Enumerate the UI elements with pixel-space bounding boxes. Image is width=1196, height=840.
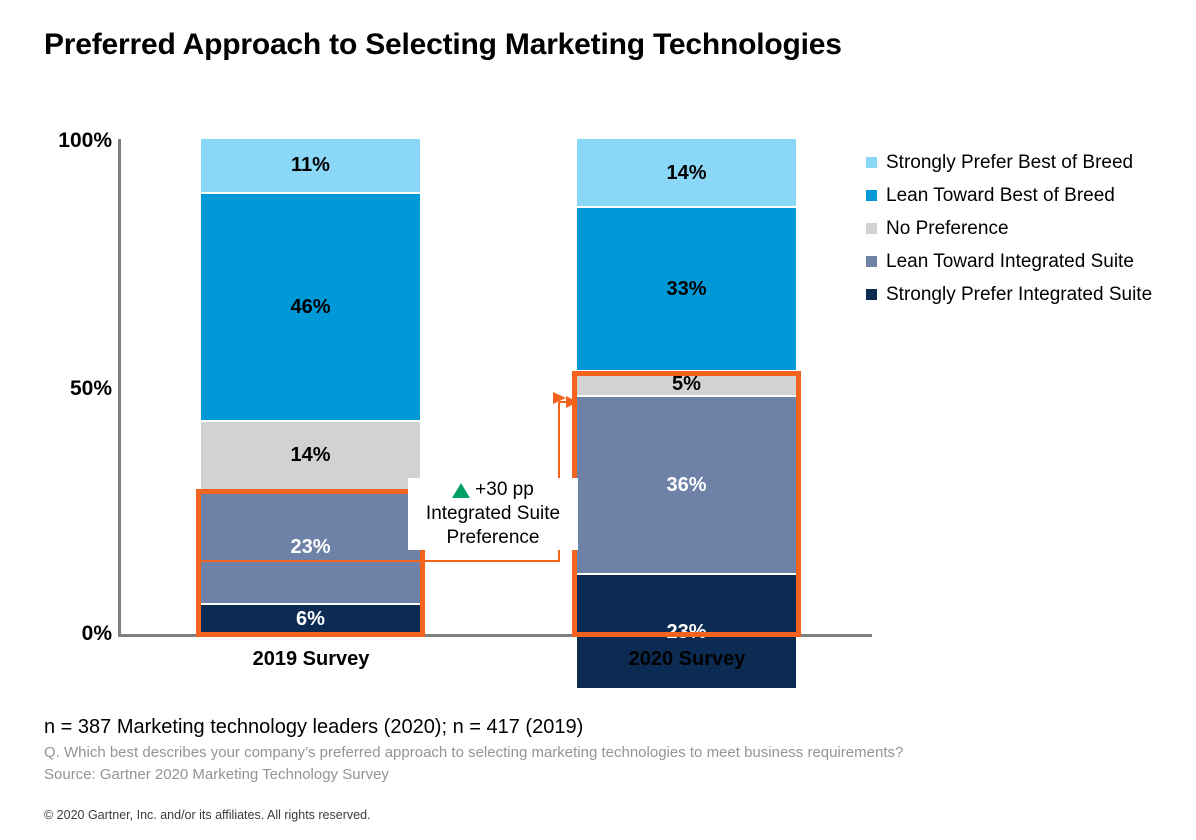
segment-label: 23% <box>290 537 330 557</box>
delta-value: +30 pp <box>475 478 534 502</box>
segment-2019-strongly-prefer-best-of-breed[interactable]: 11% <box>201 139 420 194</box>
segment-2019-lean-toward-best-of-breed[interactable]: 46% <box>201 194 420 422</box>
segment-label: 6% <box>296 609 325 629</box>
delta-callout: +30 pp Integrated Suite Preference <box>408 478 578 550</box>
legend-item-label: No Preference <box>886 218 1009 240</box>
segment-2020-strongly-prefer-integrated-suite[interactable]: 23% <box>577 575 796 689</box>
segment-label: 14% <box>290 445 330 465</box>
legend-item-lean-toward-best-of-breed[interactable]: Lean Toward Best of Breed <box>866 179 1186 212</box>
legend-swatch-icon <box>866 256 877 267</box>
legend-item-strongly-prefer-best-of-breed[interactable]: Strongly Prefer Best of Breed <box>866 146 1186 179</box>
segment-2020-lean-toward-best-of-breed[interactable]: 33% <box>577 208 796 372</box>
footnote-source: Source: Gartner 2020 Marketing Technolog… <box>44 764 1144 786</box>
legend-item-label: Strongly Prefer Integrated Suite <box>886 284 1152 306</box>
segment-label: 36% <box>666 475 706 495</box>
segment-label: 11% <box>291 155 330 175</box>
y-tick-0: 0% <box>42 622 112 646</box>
legend-item-label: Strongly Prefer Best of Breed <box>886 152 1133 174</box>
segment-2019-lean-toward-integrated-suite[interactable]: 23% <box>201 491 420 605</box>
y-tick-100: 100% <box>42 129 112 153</box>
segment-label: 33% <box>666 279 706 299</box>
segment-2019-strongly-prefer-integrated-suite[interactable]: 6% <box>201 605 420 635</box>
legend-swatch-icon <box>866 190 877 201</box>
y-tick-50: 50% <box>42 377 112 401</box>
segment-label: 23% <box>666 622 706 642</box>
segment-label: 46% <box>290 297 330 317</box>
segment-2020-lean-toward-integrated-suite[interactable]: 36% <box>577 397 796 576</box>
legend-item-lean-toward-integrated-suite[interactable]: Lean Toward Integrated Suite <box>866 245 1186 278</box>
segment-2020-strongly-prefer-best-of-breed[interactable]: 14% <box>577 139 796 208</box>
chart-legend: Strongly Prefer Best of Breed Lean Towar… <box>866 146 1186 311</box>
delta-row: +30 pp <box>408 478 578 502</box>
legend-item-label: Lean Toward Integrated Suite <box>886 251 1134 273</box>
segment-label: 5% <box>672 374 701 394</box>
up-triangle-icon <box>452 483 470 498</box>
segment-label: 14% <box>666 163 706 183</box>
x-label-2020: 2020 Survey <box>557 648 817 671</box>
copyright-notice: © 2020 Gartner, Inc. and/or its affiliat… <box>44 808 371 822</box>
y-axis-ticks: 100% 50% 0% <box>38 0 112 700</box>
footnotes: n = 387 Marketing technology leaders (20… <box>44 716 1144 786</box>
legend-swatch-icon <box>866 223 877 234</box>
legend-item-label: Lean Toward Best of Breed <box>886 185 1115 207</box>
legend-item-no-preference[interactable]: No Preference <box>866 212 1186 245</box>
y-axis-line <box>118 139 121 635</box>
segment-2020-no-preference[interactable]: 5% <box>577 372 796 397</box>
legend-swatch-icon <box>866 289 877 300</box>
legend-swatch-icon <box>866 157 877 168</box>
chart-plot-area: 100% 50% 0% 11% 46% 14% 23% 6% 14% 33% 5… <box>0 0 1196 700</box>
bar-stack-2019[interactable]: 11% 46% 14% 23% 6% <box>201 139 420 635</box>
bar-stack-2020[interactable]: 14% 33% 5% 36% 23% <box>577 139 796 635</box>
footnote-question: Q. Which best describes your company’s p… <box>44 742 1144 764</box>
x-label-2019: 2019 Survey <box>181 648 441 671</box>
callout-line-2: Preference <box>408 526 578 550</box>
callout-line-1: Integrated Suite <box>408 502 578 526</box>
legend-item-strongly-prefer-integrated-suite[interactable]: Strongly Prefer Integrated Suite <box>866 278 1186 311</box>
footnote-sample-size: n = 387 Marketing technology leaders (20… <box>44 716 1144 739</box>
segment-2019-no-preference[interactable]: 14% <box>201 422 420 491</box>
